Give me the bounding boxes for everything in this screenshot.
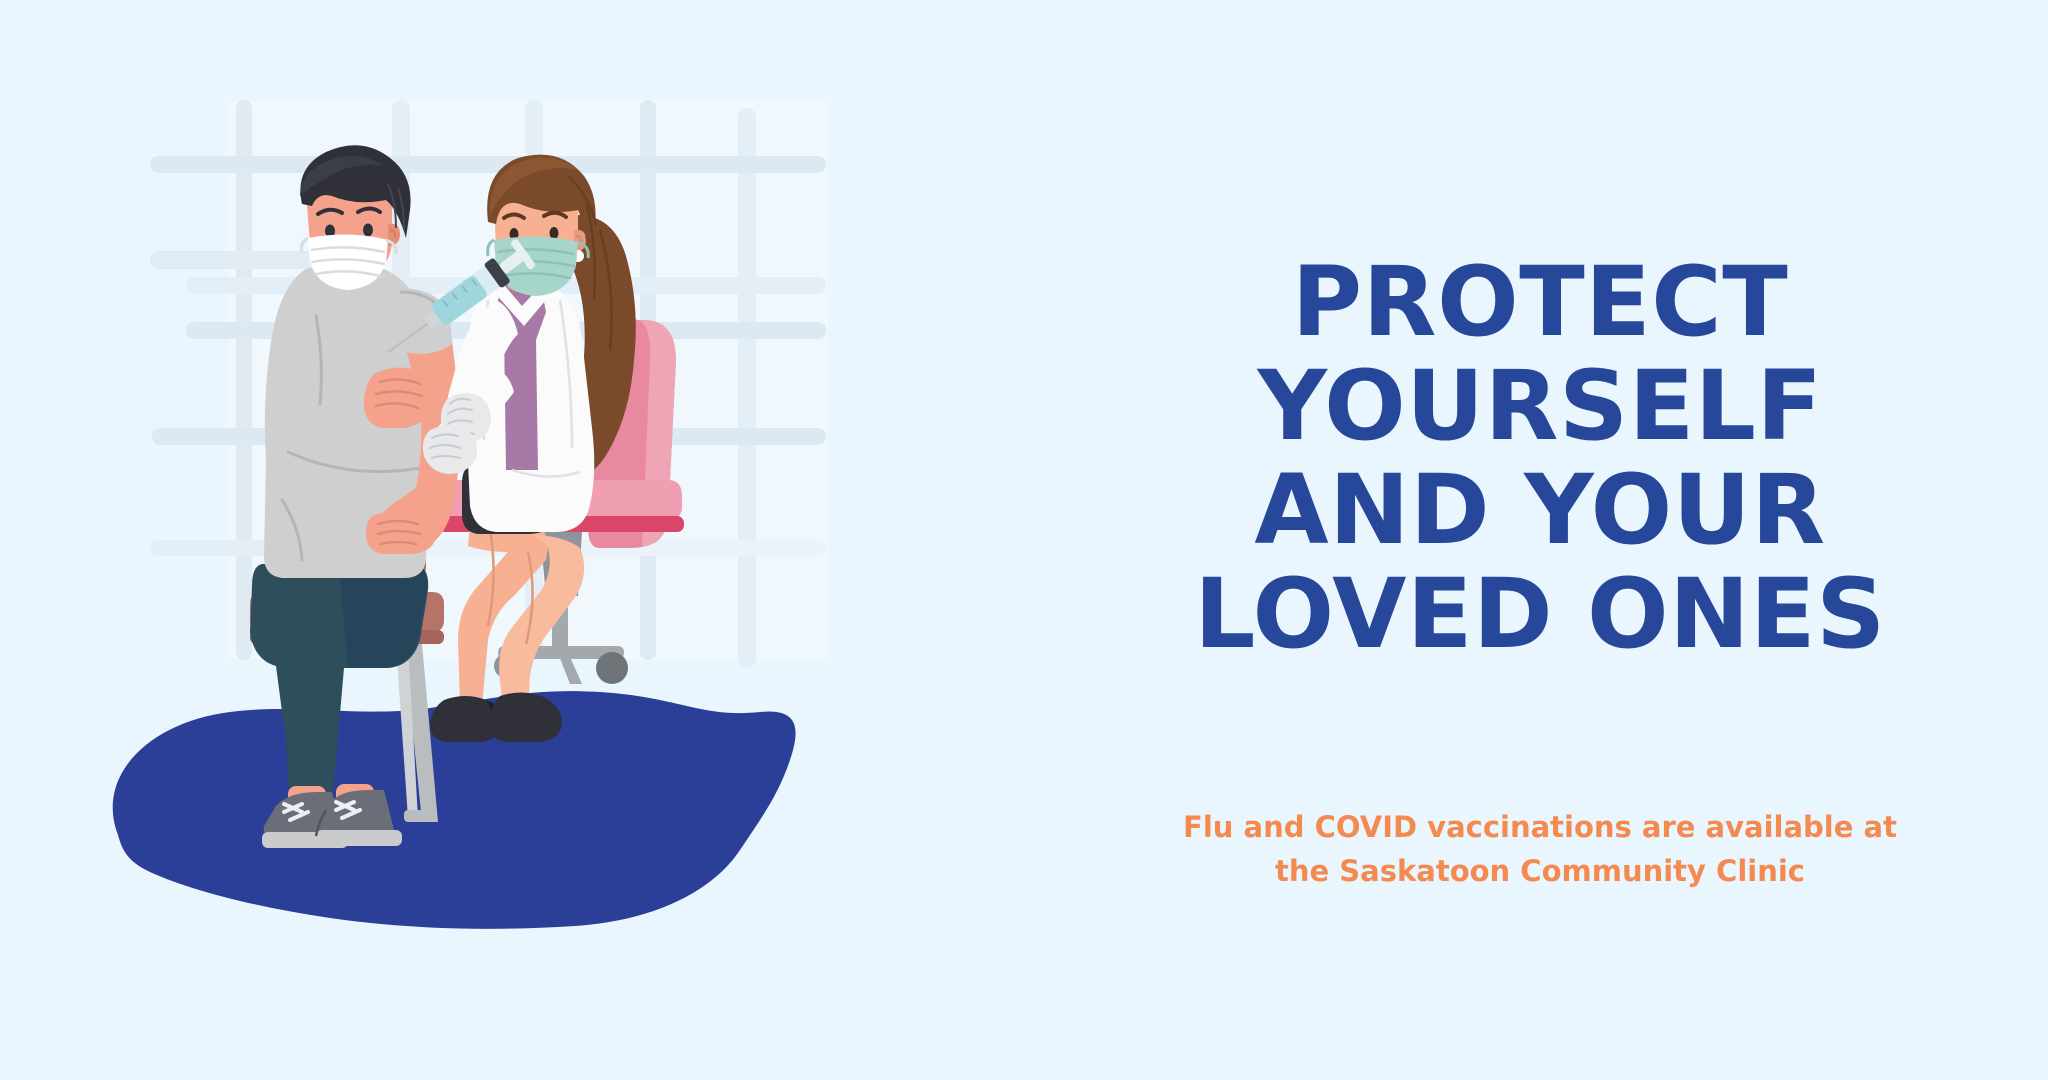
page-title: PROTECT YOURSELF AND YOUR LOVED ONES <box>1090 250 1990 666</box>
headline-line-3: AND YOUR <box>1090 458 1990 562</box>
subtitle: Flu and COVID vaccinations are available… <box>1100 805 1980 893</box>
vaccination-illustration <box>0 0 1000 1080</box>
subtitle-line-2: the Saskatoon Community Clinic <box>1100 849 1980 893</box>
subtitle-line-1: Flu and COVID vaccinations are available… <box>1100 805 1980 849</box>
headline-line-1: PROTECT <box>1090 250 1990 354</box>
text-panel: PROTECT YOURSELF AND YOUR LOVED ONES Flu… <box>1090 0 1990 1080</box>
headline-line-4: LOVED ONES <box>1090 562 1990 666</box>
headline-line-2: YOURSELF <box>1090 354 1990 458</box>
vaccination-banner: PROTECT YOURSELF AND YOUR LOVED ONES Flu… <box>0 0 2048 1080</box>
